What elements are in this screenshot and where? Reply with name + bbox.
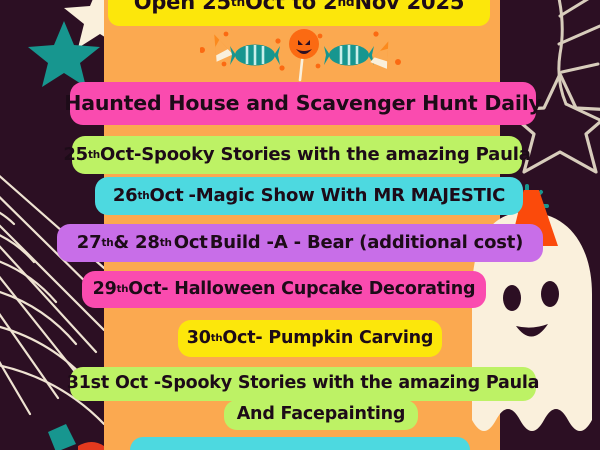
- event-pill-oct-29-cupcake-decorating: 29th Oct- Halloween Cupcake Decorating: [82, 271, 486, 308]
- event-pill-oct-25-spooky-stories: 25th Oct-Spooky Stories with the amazing…: [72, 136, 522, 174]
- event-pill-haunted-house: Haunted House and Scavenger Hunt Daily: [70, 82, 536, 125]
- opening-dates-banner: Open 25th Oct to 2nd Nov 2025: [108, 0, 490, 26]
- halloween-events-poster: Open 25th Oct to 2nd Nov 2025 Haunted Ho…: [0, 0, 600, 450]
- event-pill-next-cutoff: [130, 437, 470, 450]
- event-pill-stack: Open 25th Oct to 2nd Nov 2025 Haunted Ho…: [0, 0, 600, 450]
- event-pill-oct-27-28-build-a-bear: 27th & 28th Oct Build -A - Bear (additio…: [57, 224, 543, 262]
- event-pill-oct-31-spooky-stories: 31st Oct -Spooky Stories with the amazin…: [70, 367, 536, 401]
- event-pill-oct-31-facepainting: And Facepainting: [224, 400, 418, 430]
- event-pill-oct-30-pumpkin-carving: 30th Oct- Pumpkin Carving: [178, 320, 442, 357]
- event-pill-oct-26-magic-show: 26th Oct-Magic Show With MR MAJESTIC: [95, 177, 523, 215]
